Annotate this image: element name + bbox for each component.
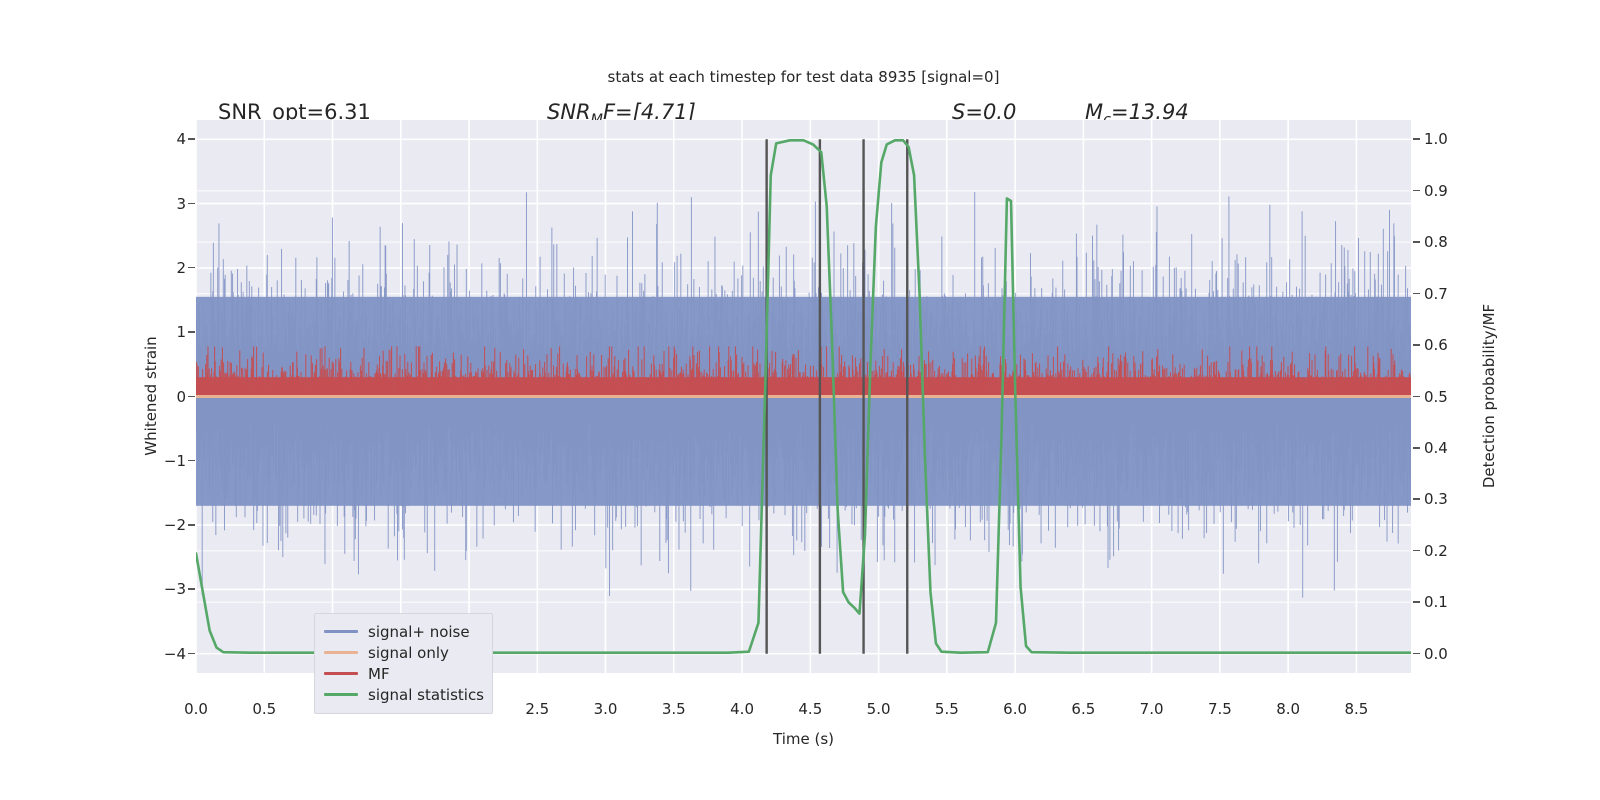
legend-item-label: signal+ noise (368, 623, 470, 641)
y-tick-label-right: 0.8 (1424, 233, 1448, 251)
y-tick-label-left: 2 (176, 259, 186, 277)
x-tick-label: 6.0 (1003, 700, 1027, 718)
x-tick-label: 4.5 (798, 700, 822, 718)
y-tick-mark-right (1413, 293, 1420, 295)
x-tick-label: 6.5 (1071, 700, 1095, 718)
y-tick-mark-right (1413, 190, 1420, 192)
y-tick-label-left: −2 (164, 516, 186, 534)
y-tick-mark-left (188, 524, 195, 526)
legend-swatch-icon (324, 672, 358, 675)
y-tick-mark-left (188, 203, 195, 205)
y-tick-label-left: 0 (176, 388, 186, 406)
y-axis-label-left: Whitened strain (142, 336, 160, 455)
y-tick-label-right: 0.0 (1424, 645, 1448, 663)
y-tick-mark-right (1413, 601, 1420, 603)
y-tick-label-left: −3 (164, 580, 186, 598)
y-tick-mark-left (188, 653, 195, 655)
y-tick-mark-right (1413, 498, 1420, 500)
y-tick-mark-left (188, 396, 195, 398)
x-tick-label: 7.0 (1140, 700, 1164, 718)
legend-item[interactable]: signal+ noise (324, 621, 483, 642)
y-tick-mark-left (188, 267, 195, 269)
y-tick-label-left: 3 (176, 195, 186, 213)
x-tick-label: 4.0 (730, 700, 754, 718)
y-tick-mark-right (1413, 653, 1420, 655)
x-tick-label: 8.0 (1276, 700, 1300, 718)
x-tick-label: 2.5 (525, 700, 549, 718)
x-tick-label: 8.5 (1344, 700, 1368, 718)
y-tick-label-left: 1 (176, 323, 186, 341)
x-axis-label: Time (s) (196, 730, 1411, 748)
y-tick-label-left: 4 (176, 130, 186, 148)
y-tick-label-right: 0.7 (1424, 285, 1448, 303)
legend-item-label: MF (368, 665, 390, 683)
legend-item[interactable]: MF (324, 663, 483, 684)
x-tick-label: 0.5 (252, 700, 276, 718)
x-tick-label: 3.5 (662, 700, 686, 718)
x-tick-label: 0.0 (184, 700, 208, 718)
y-tick-label-right: 0.1 (1424, 593, 1448, 611)
legend-swatch-icon (324, 651, 358, 654)
legend: signal+ noisesignal onlyMFsignal statist… (314, 613, 493, 714)
y-tick-label-left: −4 (164, 645, 186, 663)
figure: stats at each timestep for test data 893… (0, 0, 1600, 800)
y-tick-mark-right (1413, 344, 1420, 346)
y-tick-mark-right (1413, 550, 1420, 552)
y-tick-mark-left (188, 588, 195, 590)
y-tick-mark-left (188, 331, 195, 333)
plot-canvas (196, 120, 1411, 673)
y-tick-label-right: 1.0 (1424, 130, 1448, 148)
legend-swatch-icon (324, 693, 358, 696)
y-tick-label-right: 0.4 (1424, 439, 1448, 457)
y-tick-label-right: 0.5 (1424, 388, 1448, 406)
y-tick-mark-right (1413, 241, 1420, 243)
plot-area (196, 120, 1411, 673)
x-tick-label: 5.0 (867, 700, 891, 718)
y-tick-mark-left (188, 138, 195, 140)
legend-swatch-icon (324, 630, 358, 633)
x-tick-label: 5.5 (935, 700, 959, 718)
y-tick-mark-right (1413, 447, 1420, 449)
x-tick-label: 3.0 (594, 700, 618, 718)
y-tick-label-right: 0.2 (1424, 542, 1448, 560)
chart-title: stats at each timestep for test data 893… (196, 68, 1411, 86)
y-tick-mark-left (188, 460, 195, 462)
legend-item[interactable]: signal only (324, 642, 483, 663)
y-axis-label-right: Detection probability/MF (1480, 304, 1498, 488)
y-tick-label-left: −1 (164, 452, 186, 470)
legend-item-label: signal only (368, 644, 449, 662)
x-tick-label: 7.5 (1208, 700, 1232, 718)
y-tick-label-right: 0.3 (1424, 490, 1448, 508)
legend-item-label: signal statistics (368, 686, 484, 704)
y-tick-label-right: 0.6 (1424, 336, 1448, 354)
legend-item[interactable]: signal statistics (324, 684, 483, 705)
y-tick-label-right: 0.9 (1424, 182, 1448, 200)
y-tick-mark-right (1413, 138, 1420, 140)
y-tick-mark-right (1413, 396, 1420, 398)
